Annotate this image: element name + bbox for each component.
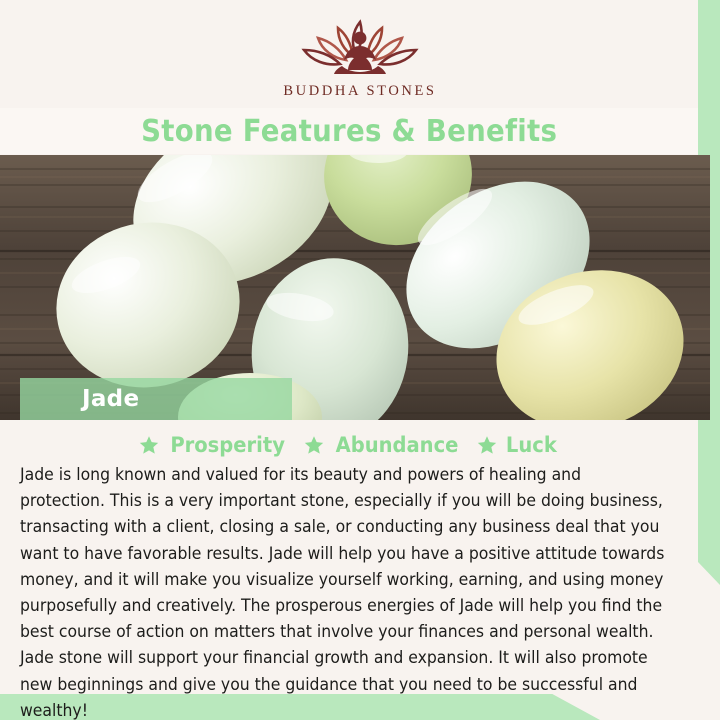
benefits-row: Prosperity Abundance Luck <box>0 430 698 460</box>
benefit-label: Abundance <box>335 433 458 457</box>
star-icon <box>139 435 159 455</box>
star-icon <box>477 435 497 455</box>
stone-description: Jade is long known and valued for its be… <box>20 462 667 720</box>
benefit-item: Abundance <box>304 433 463 457</box>
lotus-meditation-icon <box>294 14 426 80</box>
benefit-label: Luck <box>506 433 557 457</box>
stone-label: Jade <box>82 386 139 412</box>
brand-name: BUDDHA STONES <box>283 83 436 100</box>
benefit-item: Prosperity <box>139 433 289 457</box>
star-icon <box>304 435 324 455</box>
benefit-label: Prosperity <box>171 433 286 457</box>
infographic-page: BUDDHA STONES Stone Features & Benefits <box>0 0 720 720</box>
page-title: Stone Features & Benefits <box>141 114 557 149</box>
brand-logo: BUDDHA STONES <box>0 14 720 100</box>
header-banner: Stone Features & Benefits <box>0 108 698 154</box>
stone-label-tag: Jade <box>20 378 292 420</box>
benefit-item: Luck <box>477 433 559 457</box>
